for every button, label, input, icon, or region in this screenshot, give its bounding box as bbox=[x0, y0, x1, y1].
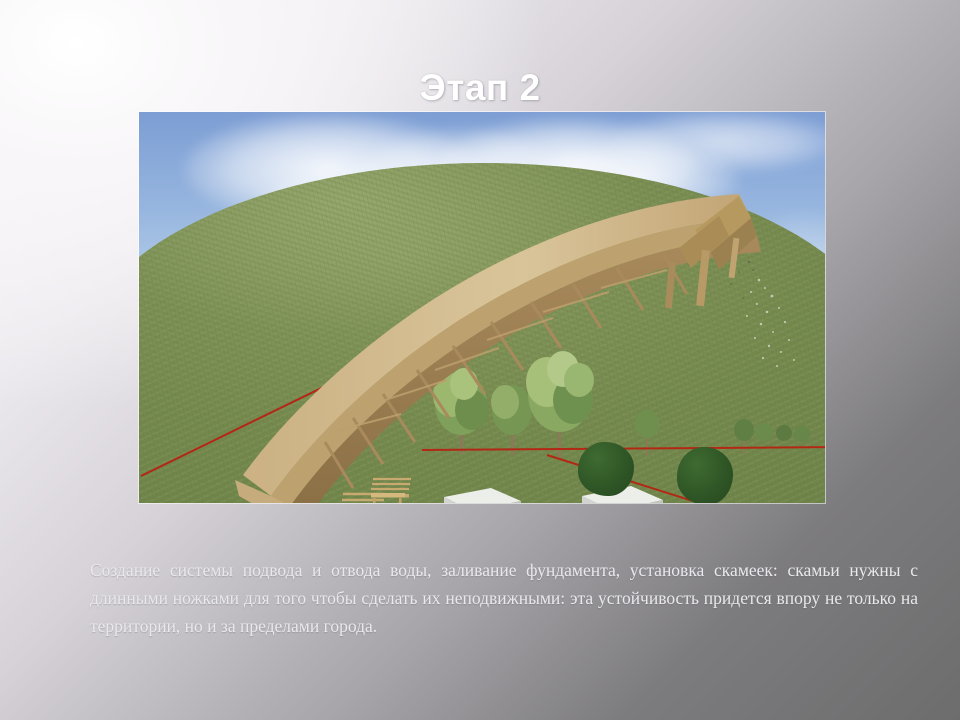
body-content: ▯ Создание системы подвода и отвода воды… bbox=[56, 538, 918, 658]
foundation-block-back-left bbox=[444, 488, 521, 503]
3d-render bbox=[139, 112, 825, 503]
scene-image bbox=[139, 112, 825, 503]
slide-canvas: Этап 2 bbox=[0, 0, 960, 720]
slide-title: Этап 2 bbox=[0, 68, 960, 109]
foundation-blocks bbox=[139, 112, 825, 503]
bullet-list-item: ▯ Создание системы подвода и отвода воды… bbox=[56, 556, 918, 641]
bullet-marker-icon: ▯ bbox=[56, 560, 70, 571]
body-paragraph: Создание системы подвода и отвода воды, … bbox=[90, 556, 918, 641]
bush-right bbox=[677, 447, 733, 503]
bush-left bbox=[578, 442, 634, 496]
